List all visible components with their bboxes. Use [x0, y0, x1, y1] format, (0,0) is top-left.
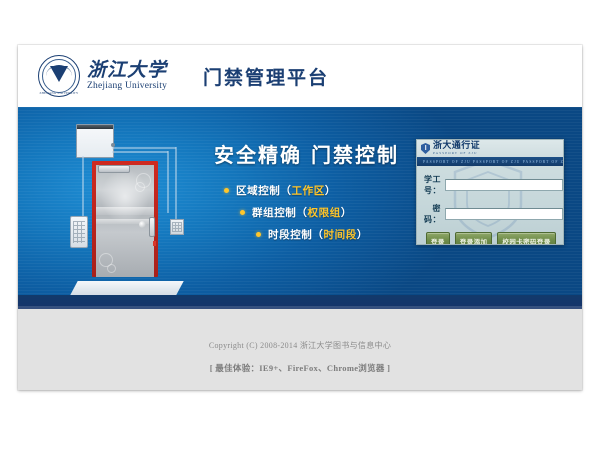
password-row: 密 码： [424, 203, 556, 225]
copyright-text: Copyright (C) 2008-2014 浙江大学图书与信息中心 [18, 340, 582, 351]
access-control-door-illustration [48, 121, 198, 301]
site-footer: Copyright (C) 2008-2014 浙江大学图书与信息中心 [ 最佳… [18, 309, 582, 390]
door-knob-icon [139, 221, 146, 228]
feature-tail: ） [341, 205, 352, 220]
campus-card-login-button[interactable]: 校园卡密码登录 [497, 232, 555, 245]
login-form: 学工号： 密 码： 登录 登录添加 校园卡密码登录 [417, 166, 563, 245]
feature-text: 时段控制（ [268, 227, 324, 242]
username-row: 学工号： [424, 174, 556, 196]
list-item: 区域控制（工作区） [224, 183, 368, 198]
browser-support-text: [ 最佳体验：IE9+、FireFox、Chrome浏览器 ] [18, 362, 582, 374]
bullet-dot-icon [224, 188, 229, 193]
feature-highlight: 工作区 [292, 183, 325, 198]
door-leaf [96, 165, 154, 277]
login-button-row: 登录 登录添加 校园卡密码登录 [424, 232, 556, 245]
passport-strip: PASSPORT OF ZJU PASSPORT OF ZJU PASSPORT… [417, 157, 563, 166]
passport-brand-cn: 浙大通行证 [433, 142, 480, 151]
login-panel-header: 浙大通行证 PASSPORT OF ZJU [417, 140, 563, 157]
card-reader-grid [172, 222, 182, 232]
password-input[interactable] [445, 208, 563, 220]
bullet-dot-icon [240, 210, 245, 215]
feature-list: 区域控制（工作区） 群组控制（权限组） 时段控制（时间段） [224, 183, 368, 249]
wire-to-reader [82, 156, 84, 216]
passport-brand-en: PASSPORT OF ZJU [433, 152, 480, 155]
controller-box-icon [76, 124, 114, 158]
wire-down-right-a [175, 147, 177, 219]
door-highlight-band [96, 207, 154, 215]
door-closer-icon [98, 165, 130, 173]
wire-top-right-b [112, 151, 168, 153]
floor-plane [70, 281, 183, 295]
gear-decoration-4 [107, 264, 116, 273]
keypad-grid [73, 221, 85, 243]
banner-bottom-bar [18, 295, 582, 309]
card-reader-icon [170, 219, 184, 235]
list-item: 群组控制（权限组） [240, 205, 368, 220]
username-label: 学工号： [424, 174, 441, 196]
password-label: 密 码： [424, 203, 441, 225]
gear-decoration-2 [135, 182, 145, 192]
seal-arc-text: ZHEJIANG UNIVERSITY [39, 91, 79, 95]
username-input[interactable] [445, 179, 563, 191]
wire-down-right-b [167, 151, 169, 213]
university-logo[interactable]: ZHEJIANG UNIVERSITY 浙江大学 Zhejiang Univer… [38, 55, 167, 97]
university-names: 浙江大学 Zhejiang University [87, 61, 167, 92]
banner-slogan: 安全精确 门禁控制 [214, 139, 399, 168]
door-frame [92, 161, 158, 277]
feature-text: 群组控制（ [252, 205, 308, 220]
university-name-en: Zhejiang University [87, 81, 167, 91]
wire-top-right-a [112, 147, 176, 149]
feature-text: 区域控制（ [236, 183, 292, 198]
door-status-led [153, 241, 156, 246]
login-add-button[interactable]: 登录添加 [455, 232, 493, 245]
passport-brand: 浙大通行证 PASSPORT OF ZJU [433, 142, 480, 155]
site-header: ZHEJIANG UNIVERSITY 浙江大学 Zhejiang Univer… [18, 45, 582, 107]
feature-tail: ） [325, 183, 336, 198]
passport-strip-text: PASSPORT OF ZJU PASSPORT OF ZJU PASSPORT… [423, 160, 563, 164]
feature-highlight: 权限组 [308, 205, 341, 220]
feature-highlight: 时间段 [324, 227, 357, 242]
page-card: ZHEJIANG UNIVERSITY 浙江大学 Zhejiang Univer… [18, 45, 582, 390]
list-item: 时段控制（时间段） [256, 227, 368, 242]
door-handle-icon [149, 217, 155, 237]
seal-wing-decoration [46, 65, 72, 76]
keypad-reader-icon [70, 216, 88, 248]
feature-tail: ） [357, 227, 368, 242]
zju-seal-icon: ZHEJIANG UNIVERSITY [38, 55, 80, 97]
hero-banner: 安全精确 门禁控制 区域控制（工作区） 群组控制（权限组） 时段控制（时间段） [18, 107, 582, 309]
university-name-cn: 浙江大学 [87, 61, 167, 81]
bullet-dot-icon [256, 232, 261, 237]
shield-icon [421, 143, 430, 154]
login-button[interactable]: 登录 [426, 232, 450, 245]
page-title: 门禁管理平台 [203, 63, 329, 90]
login-panel: 浙大通行证 PASSPORT OF ZJU PASSPORT OF ZJU PA… [416, 139, 564, 245]
